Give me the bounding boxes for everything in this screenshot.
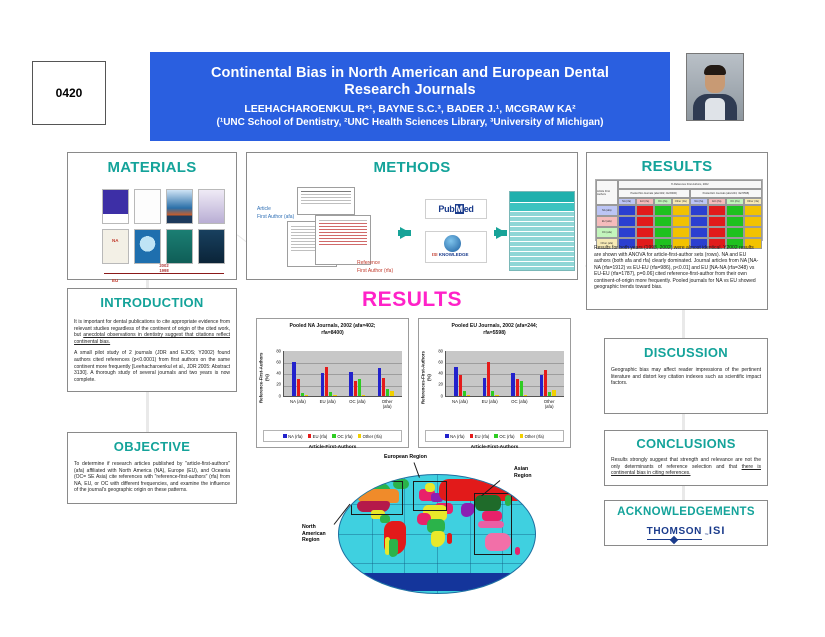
bar-other-rfa — [552, 390, 555, 396]
y-tick: 60 — [438, 360, 443, 365]
table-cell — [744, 227, 762, 238]
affiliation-list: (¹UNC School of Dentistry, ²UNC Health S… — [217, 116, 604, 129]
methods-results-table-thumbnail — [509, 191, 575, 271]
chart-x-axis-label: Article-First-Authors — [419, 445, 570, 450]
table-header-row-title: Article First Authors % Reference First … — [596, 180, 762, 189]
x-category: OC (afa) — [505, 399, 535, 410]
bar-other-rfa — [495, 395, 498, 396]
table-cell — [654, 227, 672, 238]
x-category: EU (afa) — [475, 399, 505, 410]
table-cell — [636, 216, 654, 227]
table-row: OC (afa) — [596, 227, 762, 238]
section-conclusions: CONCLUSIONS Results strongly suggest tha… — [604, 430, 768, 486]
journal-row-na — [102, 189, 226, 224]
isi-text-a: ISI — [432, 252, 439, 257]
chart-x-axis-label: Article-First-Authors — [257, 445, 408, 450]
pubmed-logo: PubMed — [425, 199, 487, 219]
table-cell — [654, 205, 672, 216]
y-tick: 20 — [276, 382, 281, 387]
y-tick: 0 — [441, 394, 443, 399]
sponsor-logos: THOMSON ™ ISI — [605, 525, 767, 537]
table-header-row-cols: NA (rfa) EU (rfa) OC (rfa) Other (rfa) N… — [618, 198, 762, 205]
legend-label: NA (rfa) — [450, 434, 464, 439]
introduction-body: It is important for dental publications … — [74, 319, 230, 388]
chart-y-axis-label: References-First-Authors (%) — [422, 349, 431, 407]
introduction-paragraph-1: It is important for dental publications … — [74, 319, 230, 345]
globe-icon — [444, 235, 461, 252]
y-tick: 20 — [438, 382, 443, 387]
bar-group — [349, 351, 365, 396]
chart-plot-area: Reference-First-Authors (%) 80 60 40 20 … — [257, 345, 408, 411]
title-line-1: Continental Bias in North American and E… — [211, 65, 609, 82]
section-discussion: DISCUSSION Geographic bias may affect re… — [604, 338, 768, 414]
bar-eu-rfa — [544, 370, 547, 396]
region-box-north-american — [351, 481, 403, 515]
bar-eu-rfa — [297, 379, 300, 396]
label-article: Article — [257, 205, 294, 213]
chart-title-line-2: rfa=5598) — [424, 330, 565, 337]
chart-plot-area: References-First-Authors (%) 80 60 40 20… — [419, 345, 570, 411]
results-right-body: Results for both years (1998, 2002) were… — [594, 245, 760, 291]
table-col-header: OC (rfa) — [726, 198, 744, 205]
introduction-p1-emphasis: anecdotal observations in dentistry sugg… — [74, 332, 230, 345]
table-group-header-eu: Pooled EU Journals (afa=244; rfa=5598) — [690, 189, 762, 198]
bar-na-rfa — [349, 372, 352, 396]
bar-na-rfa — [454, 367, 457, 396]
chart-pooled-eu-journals: Pooled EU Journals, 2002 (afa=244; rfa=5… — [418, 318, 571, 448]
table-col-header: NA (rfa) — [618, 198, 636, 205]
bar-group — [540, 351, 556, 396]
table-row: EU (afa) — [596, 216, 762, 227]
bar-other-rfa — [362, 395, 365, 396]
table-row-label: NA (afa) — [596, 205, 618, 216]
legend-label: EU (rfa) — [475, 434, 490, 439]
poster-number-badge: 0420 — [32, 61, 106, 125]
legend-item: Other (rfa) — [520, 434, 544, 439]
isi-logo-text: ISI — [709, 525, 725, 537]
legend-item: OC (rfa) — [332, 434, 352, 439]
journal-cover — [166, 229, 193, 264]
journal-cover — [134, 189, 161, 224]
table-cell — [618, 205, 636, 216]
section-objective: OBJECTIVE To determine if research artic… — [67, 432, 237, 504]
table-cell — [618, 227, 636, 238]
introduction-heading: INTRODUCTION — [68, 295, 236, 310]
legend-item: OC (rfa) — [494, 434, 514, 439]
table-col-header: OC (rfa) — [654, 198, 672, 205]
table-row-label: EU (afa) — [596, 216, 618, 227]
section-acknowledgements: ACKNOWLEDGEMENTS THOMSON ™ ISI — [604, 500, 768, 546]
legend-swatch-na — [445, 434, 449, 438]
avatar — [686, 53, 744, 121]
bar-group — [292, 351, 308, 396]
journal-cover — [198, 189, 225, 224]
x-category: OC (afa) — [343, 399, 373, 410]
journal-row-eu — [102, 229, 226, 264]
label-reference-first-author: First Author (rfa) — [357, 267, 393, 275]
map-label-european-region: European Region — [384, 454, 427, 461]
bar-na-rfa — [378, 368, 381, 396]
pubmed-text-m: M — [455, 204, 464, 214]
bar-other-rfa — [467, 395, 470, 396]
landmass-southern-africa — [431, 531, 445, 547]
bar-eu-rfa — [325, 367, 328, 396]
legend-swatch-na — [283, 434, 287, 438]
table-header-row-groups: Pooled NA Journals (afa=402; rfa=8400) P… — [618, 189, 762, 198]
journal-cover — [134, 229, 161, 264]
table-cell — [636, 205, 654, 216]
bar-oc-rfa — [520, 381, 523, 397]
flow-arrow-icon — [400, 227, 411, 239]
bar-oc-rfa — [491, 391, 494, 396]
section-introduction: INTRODUCTION It is important for dental … — [67, 288, 237, 392]
table-cell — [744, 216, 762, 227]
table-col-header: EU (rfa) — [708, 198, 726, 205]
isi-web-of-knowledge-logo: ISI KNOWLEDGE — [425, 231, 487, 263]
methods-diagram: Article First Author (afa) Reference Fi — [253, 183, 571, 273]
chart-bar-groups — [284, 351, 402, 396]
landmass-antarctica — [353, 573, 521, 591]
discussion-heading: DISCUSSION — [605, 345, 767, 360]
chart-x-axis-categories: NA (afa) EU (afa) OC (afa) Other(afa) — [445, 399, 564, 410]
label-reference: Reference — [357, 259, 393, 267]
x-category: EU (afa) — [313, 399, 343, 410]
table-cell — [672, 216, 690, 227]
table-row-label: OC (afa) — [596, 227, 618, 238]
legend-label: OC (rfa) — [499, 434, 514, 439]
chart-legend: NA (rfa) EU (rfa) OC (rfa) Other (rfa) — [425, 430, 564, 442]
table-title-cell: % Reference First Authors, 2002 — [618, 180, 762, 189]
bar-oc-rfa — [358, 379, 361, 396]
title-banner: Continental Bias in North American and E… — [150, 52, 670, 141]
acknowledgements-heading: ACKNOWLEDGEMENTS — [605, 506, 767, 518]
landmass-madagascar — [447, 533, 452, 544]
legend-label: NA (rfa) — [288, 434, 302, 439]
methods-label-article-first-author: Article First Author (afa) — [257, 205, 294, 221]
table-stub-header: Article First Authors — [596, 180, 618, 205]
region-box-asian — [474, 493, 512, 555]
table-row: NA (afa) — [596, 205, 762, 216]
chart-pooled-na-journals: Pooled NA Journals, 2002 (afa=402; rfa=8… — [256, 318, 409, 448]
section-methods: METHODS Article First Author (afa) — [246, 152, 578, 280]
article-callout-thumbnail — [297, 187, 355, 215]
conclusions-text: Results strongly suggest that strength a… — [611, 457, 761, 470]
table-col-header: Other (rfa) — [744, 198, 762, 205]
y-tick: 40 — [438, 371, 443, 376]
study-timeline: 2002 1998 — [104, 263, 224, 274]
table-cell — [726, 216, 744, 227]
thomson-logo: THOMSON ™ — [647, 526, 702, 537]
region-box-european — [413, 481, 447, 511]
bar-na-rfa — [540, 375, 543, 396]
journal-cover — [166, 189, 193, 224]
landmass-argentina — [389, 539, 398, 557]
x-category: NA (afa) — [283, 399, 313, 410]
section-materials: MATERIALS NA EU 2002 1998 — [67, 152, 237, 280]
objective-heading: OBJECTIVE — [68, 439, 236, 454]
legend-label: EU (rfa) — [313, 434, 328, 439]
journal-cover — [198, 229, 225, 264]
chart-title-line-1: Pooled EU Journals, 2002 (afa=244; — [424, 323, 565, 330]
y-tick: 60 — [276, 360, 281, 365]
table-cell — [708, 205, 726, 216]
objective-body: To determine if research articles publis… — [74, 461, 230, 494]
table-cell — [726, 227, 744, 238]
thomson-logo-text: THOMSON — [647, 526, 702, 537]
chart-title-line-2: rfa=8400) — [262, 330, 403, 337]
bar-eu-rfa — [487, 362, 490, 397]
x-category: NA (afa) — [445, 399, 475, 410]
asian-label-line-2: Region — [514, 473, 532, 479]
y-tick: 80 — [438, 349, 443, 354]
world-map-figure: European Region Asian Region North Ameri… — [300, 452, 566, 614]
chart-x-axis-categories: NA (afa) EU (afa) OC (afa) Other(afa) — [283, 399, 402, 410]
bar-other-rfa — [390, 391, 393, 396]
chart-y-axis-ticks: 80 60 40 20 0 — [270, 345, 282, 403]
bar-eu-rfa — [354, 381, 357, 397]
asian-label-line-1: Asian — [514, 466, 528, 472]
legend-item: NA (rfa) — [445, 434, 465, 439]
legend-label: Other (rfa) — [363, 434, 382, 439]
map-label-asian-region: Asian Region — [514, 466, 532, 479]
bar-group — [454, 351, 470, 396]
table-cell — [726, 205, 744, 216]
legend-item: NA (rfa) — [283, 434, 303, 439]
table-cell — [618, 216, 636, 227]
chart-title: Pooled EU Journals, 2002 (afa=244; rfa=5… — [419, 319, 570, 337]
bar-group — [483, 351, 499, 396]
reference-page-thumbnail — [315, 215, 371, 265]
bar-other-rfa — [524, 395, 527, 396]
y-tick: 80 — [276, 349, 281, 354]
y-tick: 40 — [276, 371, 281, 376]
isi-logo-text: ISI KNOWLEDGE — [432, 252, 469, 257]
bar-oc-rfa — [386, 389, 389, 397]
poster-title: Continental Bias in North American and E… — [211, 65, 609, 99]
bar-eu-rfa — [516, 379, 519, 396]
map-label-north-american-region: North American Region — [302, 524, 326, 544]
materials-row-label-na: NA — [112, 238, 119, 243]
poster-number: 0420 — [56, 86, 83, 100]
legend-label: OC (rfa) — [337, 434, 352, 439]
avatar-hair — [704, 65, 726, 75]
table-col-header: Other (rfa) — [672, 198, 690, 205]
conclusions-heading: CONCLUSIONS — [605, 436, 767, 451]
world-globe — [338, 474, 536, 594]
bar-na-rfa — [292, 362, 295, 397]
trademark-symbol: ™ — [704, 532, 709, 537]
legend-swatch-other — [358, 434, 362, 438]
bar-eu-rfa — [382, 378, 385, 396]
chart-title-line-1: Pooled NA Journals, 2002 (afa=402; — [262, 323, 403, 330]
x-category: Other(afa) — [372, 399, 402, 410]
bar-oc-rfa — [329, 392, 332, 396]
bar-oc-rfa — [301, 393, 304, 397]
table-cell — [690, 227, 708, 238]
na-label-line-3: Region — [302, 537, 320, 543]
pubmed-text-b: ed — [464, 204, 474, 214]
author-list: LEEHACHAROENKUL R*¹, BAYNE S.C.³, BADER … — [244, 103, 575, 116]
journal-cover-grid: NA EU — [102, 189, 226, 269]
table-cell — [690, 216, 708, 227]
legend-swatch-oc — [332, 434, 336, 438]
table-cell — [690, 205, 708, 216]
materials-row-label-eu: EU — [112, 278, 118, 283]
connector-line — [146, 392, 149, 434]
materials-heading: MATERIALS — [68, 159, 236, 176]
y-tick: 0 — [279, 394, 281, 399]
introduction-paragraph-2: A small pilot study of 2 journals (JDR a… — [74, 350, 230, 383]
chart-legend: NA (rfa) EU (rfa) OC (rfa) Other (rfa) — [263, 430, 402, 442]
legend-swatch-eu — [308, 434, 312, 438]
discussion-body: Geographic bias may affect reader impres… — [611, 367, 761, 387]
timeline-axis — [104, 273, 224, 274]
legend-swatch-eu — [470, 434, 474, 438]
conclusions-body: Results strongly suggest that strength a… — [611, 457, 761, 477]
legend-item: Other (rfa) — [358, 434, 382, 439]
journal-cover — [102, 229, 129, 264]
bar-na-rfa — [483, 378, 486, 396]
legend-label: Other (rfa) — [525, 434, 544, 439]
bar-group — [378, 351, 394, 396]
table-cell — [654, 216, 672, 227]
x-category: Other(afa) — [534, 399, 564, 410]
chart-y-axis-ticks: 80 60 40 20 0 — [432, 345, 444, 403]
table-cell — [708, 227, 726, 238]
poster-canvas: 0420 Continental Bias in North American … — [0, 0, 825, 637]
bar-other-rfa — [305, 395, 308, 396]
bar-other-rfa — [333, 395, 336, 396]
landmass-new-zealand — [515, 547, 520, 555]
chart-bars-canvas — [445, 351, 564, 397]
legend-swatch-other — [520, 434, 524, 438]
table-cell — [708, 216, 726, 227]
methods-label-reference-first-author: Reference First Author (rfa) — [357, 259, 393, 275]
methods-heading: METHODS — [247, 159, 577, 176]
avatar-shirt — [705, 98, 725, 120]
title-line-2: Research Journals — [211, 82, 609, 99]
section-results-right: RESULTS Article First Authors % Referenc… — [586, 152, 768, 310]
legend-item: EU (rfa) — [470, 434, 490, 439]
bar-group — [511, 351, 527, 396]
label-article-first-author: First Author (afa) — [257, 213, 294, 221]
bar-oc-rfa — [463, 391, 466, 396]
legend-swatch-oc — [494, 434, 498, 438]
table-col-header: EU (rfa) — [636, 198, 654, 205]
bar-oc-rfa — [548, 392, 551, 396]
chart-bar-groups — [446, 351, 564, 396]
results-center-heading: RESULTS — [246, 288, 578, 312]
bar-na-rfa — [321, 373, 324, 396]
chart-title: Pooled NA Journals, 2002 (afa=402; rfa=8… — [257, 319, 408, 337]
bar-eu-rfa — [459, 375, 462, 396]
flow-arrow-icon — [496, 227, 507, 239]
thomson-diamond-icon — [670, 535, 678, 543]
isi-text-c: KNOWLEDGE — [439, 252, 469, 257]
landmass-india — [461, 503, 475, 517]
bar-group — [321, 351, 337, 396]
table-cell — [636, 227, 654, 238]
chart-y-axis-label: Reference-First-Authors (%) — [260, 349, 269, 407]
legend-item: EU (rfa) — [308, 434, 328, 439]
na-label-line-1: North — [302, 524, 316, 530]
table-cell — [672, 227, 690, 238]
journal-cover — [102, 189, 129, 224]
table-cell — [672, 205, 690, 216]
table-col-header: NA (rfa) — [690, 198, 708, 205]
results-matrix-table: Article First Authors % Reference First … — [595, 179, 763, 241]
bar-na-rfa — [511, 373, 514, 396]
na-label-line-2: American — [302, 531, 326, 537]
chart-bars-canvas — [283, 351, 402, 397]
table-group-header-na: Pooled NA Journals (afa=402; rfa=8400) — [618, 189, 690, 198]
pubmed-text-a: Pub — [438, 204, 454, 214]
table-cell — [744, 205, 762, 216]
connector-line — [682, 310, 685, 340]
results-right-heading: RESULTS — [587, 158, 767, 175]
